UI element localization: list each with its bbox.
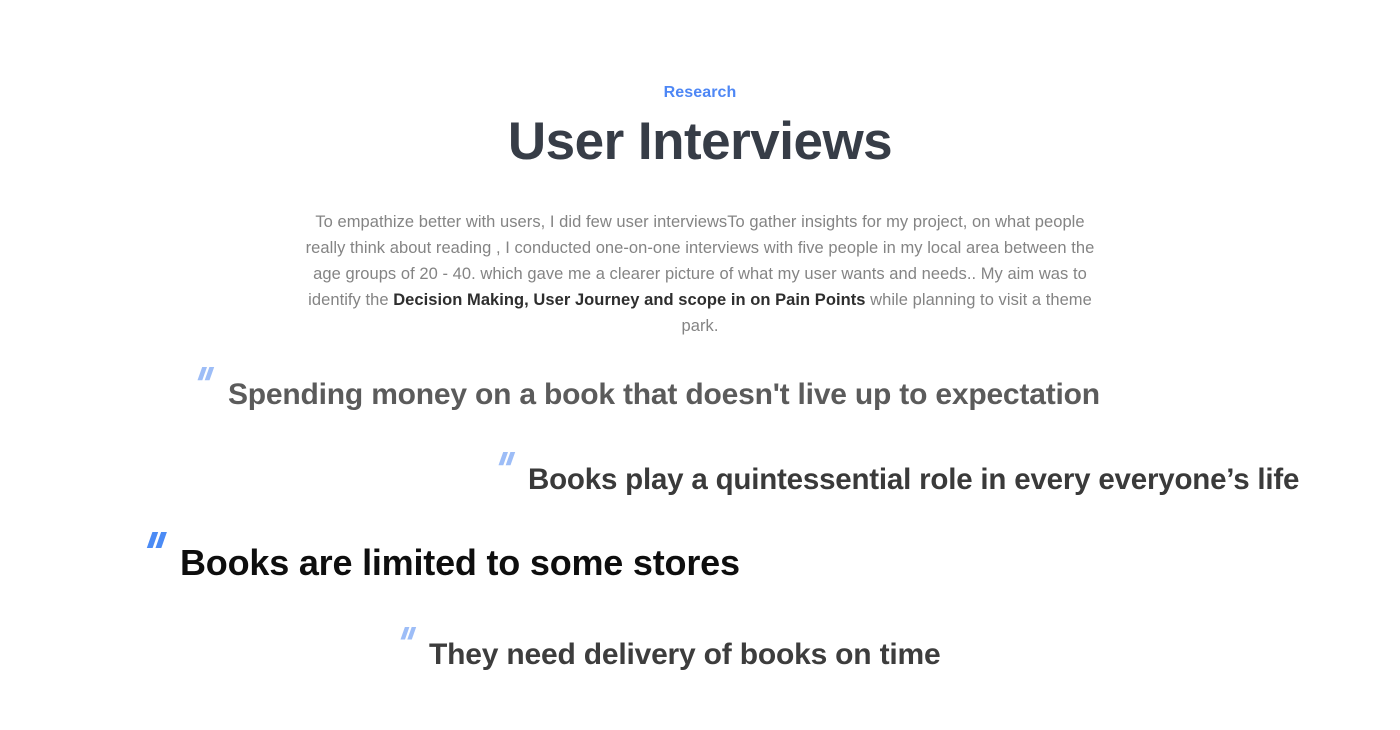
quote-text: Books are limited to some stores [180,540,740,586]
quotation-mark-icon [497,452,517,470]
page-header: Research User Interviews [0,0,1400,173]
quotation-mark-icon [145,532,169,554]
quote-list: Spending money on a book that doesn't li… [0,365,1400,675]
quotation-mark-icon [196,367,216,385]
quote-item: They need delivery of books on time [0,625,1400,675]
quote-text: They need delivery of books on time [429,635,940,675]
quote-item: Books play a quintessential role in ever… [0,450,1400,500]
section-eyebrow: Research [0,82,1400,104]
quote-item: Books are limited to some stores [0,532,1400,586]
page-title: User Interviews [0,111,1400,173]
intro-emphasis: Decision Making, User Journey and scope … [393,291,865,309]
quotation-mark-icon [399,627,418,644]
intro-paragraph: To empathize better with users, I did fe… [305,209,1095,339]
quote-text: Spending money on a book that doesn't li… [228,375,1100,415]
quote-item: Spending money on a book that doesn't li… [0,365,1400,415]
quote-text: Books play a quintessential role in ever… [528,460,1299,500]
